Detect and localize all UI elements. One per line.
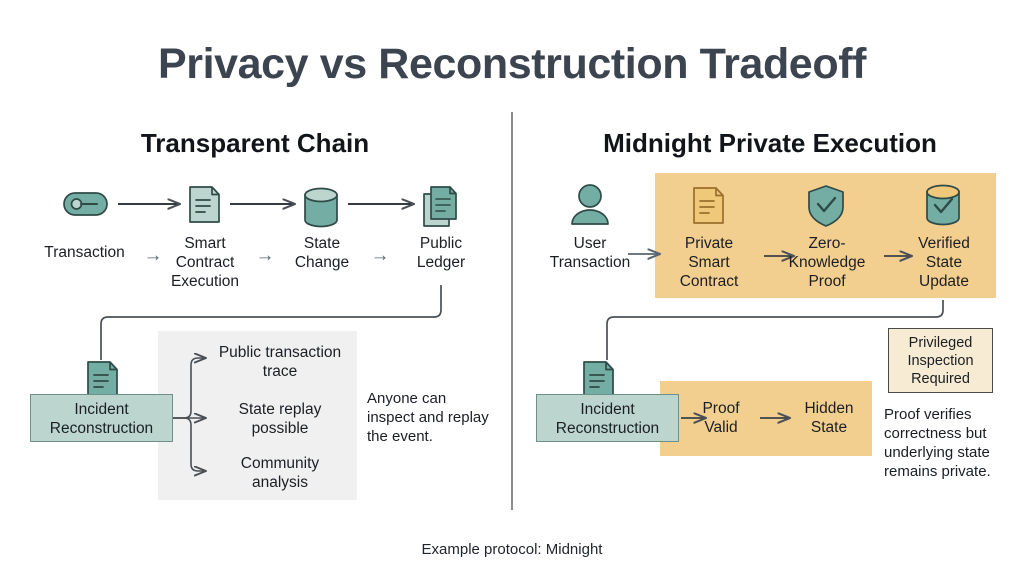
node-label-user-transaction: User Transaction	[540, 234, 640, 272]
document-icon	[190, 187, 219, 222]
trace-item-public-transaction: Public transaction trace	[205, 343, 355, 381]
vertical-divider	[511, 112, 513, 510]
footer-caption: Example protocol: Midnight	[0, 540, 1024, 560]
diagram-canvas: Privacy vs Reconstruction Tradeoff Trans…	[0, 0, 1024, 572]
trace-item-community-analysis: Community analysis	[205, 454, 355, 492]
incident-reconstruction-box-right: Incident Reconstruction	[536, 394, 679, 442]
key-icon	[64, 193, 107, 215]
incident-reconstruction-box-left: Incident Reconstruction	[30, 394, 173, 442]
user-icon	[572, 185, 608, 224]
privileged-inspection-label: Privileged Inspection Required	[889, 334, 992, 388]
document-icon	[88, 362, 117, 397]
stacked-documents-icon	[424, 187, 456, 226]
node-label-proof-valid: Proof Valid	[682, 399, 760, 437]
node-label-transaction: Transaction	[22, 243, 147, 262]
privileged-inspection-box: Privileged Inspection Required	[888, 328, 993, 393]
document-icon	[584, 362, 613, 397]
incident-reconstruction-label: Incident Reconstruction	[31, 400, 172, 438]
node-label-verified-state-update: Verified State Update	[904, 234, 984, 291]
page-title: Privacy vs Reconstruction Tradeoff	[0, 38, 1024, 90]
incident-reconstruction-label: Incident Reconstruction	[537, 400, 678, 438]
right-column-heading: Midnight Private Execution	[545, 127, 995, 159]
database-icon	[305, 189, 337, 227]
right-column-note: Proof verifies correctness but underlyin…	[884, 405, 1012, 481]
left-column-heading: Transparent Chain	[40, 127, 470, 159]
label-arrow-3: →	[367, 246, 393, 265]
left-column-note: Anyone can inspect and replay the event.	[367, 389, 497, 446]
label-arrow-2: →	[252, 246, 278, 265]
node-label-public-ledger: Public Ledger	[401, 234, 481, 272]
node-label-private-smart-contract: Private Smart Contract	[662, 234, 756, 291]
node-label-state-change: State Change	[282, 234, 362, 272]
node-label-smart-contract-execution: Smart Contract Execution	[158, 234, 252, 291]
node-label-zero-knowledge-proof: Zero- Knowledge Proof	[778, 234, 876, 291]
node-label-hidden-state: Hidden State	[790, 399, 868, 437]
trace-item-state-replay: State replay possible	[205, 400, 355, 438]
